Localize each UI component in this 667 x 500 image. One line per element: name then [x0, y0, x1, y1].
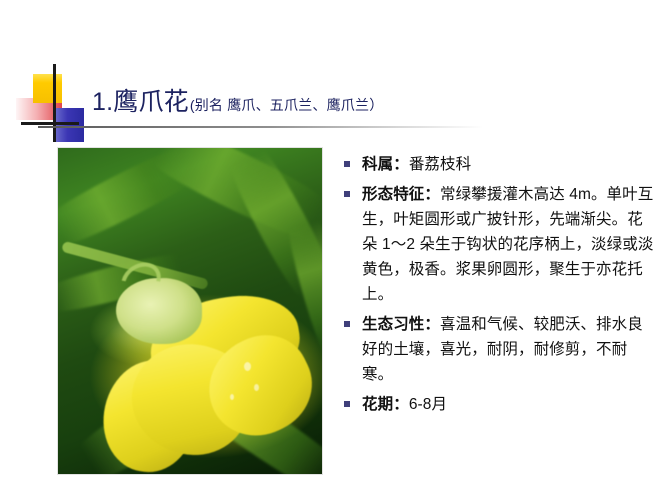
list-item-label: 形态特征： [362, 186, 440, 203]
title-main-text: 1.鹰爪花 [92, 82, 189, 118]
page-title: 1.鹰爪花 (别名 鹰爪、五爪兰、鹰爪兰） [92, 82, 383, 118]
list-item-text: 花期：6-8月 [362, 392, 656, 417]
list-item-value: 常绿攀援灌木高达 4m。单叶互生，叶矩圆形或广披针形，先端渐尖。花朵 1～2 朵… [362, 186, 653, 303]
list-item-value: 6-8月 [409, 396, 447, 413]
description-list: 科属：番荔枝科 形态特征：常绿攀援灌木高达 4m。单叶互生，叶矩圆形或广披针形，… [344, 152, 656, 422]
dew-drop-shape [244, 362, 251, 371]
list-item-label: 花期： [362, 396, 409, 413]
slide-canvas: 1.鹰爪花 (别名 鹰爪、五爪兰、鹰爪兰） [0, 0, 667, 500]
bullet-square-icon [344, 161, 350, 167]
list-item-value: 番荔枝科 [409, 156, 471, 173]
dew-drop-shape [230, 394, 234, 400]
title-underline-rule [38, 126, 483, 128]
bullet-square-icon [344, 321, 350, 327]
title-alias-text: (别名 鹰爪、五爪兰、鹰爪兰） [190, 95, 384, 115]
list-item-text: 生态习性：喜温和气候、较肥沃、排水良好的土壤，喜光，耐阴，耐修剪，不耐寒。 [362, 312, 656, 387]
list-item-label: 生态习性： [362, 316, 440, 333]
flower-photo-image [58, 148, 322, 474]
list-item: 生态习性：喜温和气候、较肥沃、排水良好的土壤，喜光，耐阴，耐修剪，不耐寒。 [344, 312, 656, 387]
list-item-text: 科属：番荔枝科 [362, 152, 656, 177]
bullet-square-icon [344, 401, 350, 407]
motif-yellow-square-icon [33, 74, 62, 103]
list-item: 花期：6-8月 [344, 392, 656, 417]
motif-vertical-rule [53, 64, 56, 142]
motif-horizontal-rule [21, 122, 79, 125]
list-item: 形态特征：常绿攀援灌木高达 4m。单叶互生，叶矩圆形或广披针形，先端渐尖。花朵 … [344, 182, 656, 307]
list-item-text: 形态特征：常绿攀援灌木高达 4m。单叶互生，叶矩圆形或广披针形，先端渐尖。花朵 … [362, 182, 656, 307]
motif-blue-square-icon [54, 108, 84, 142]
bullet-square-icon [344, 191, 350, 197]
decorative-motif [14, 64, 94, 142]
list-item: 科属：番荔枝科 [344, 152, 656, 177]
dew-drop-shape [254, 384, 259, 391]
list-item-label: 科属： [362, 156, 409, 173]
flower-photo [57, 147, 323, 475]
